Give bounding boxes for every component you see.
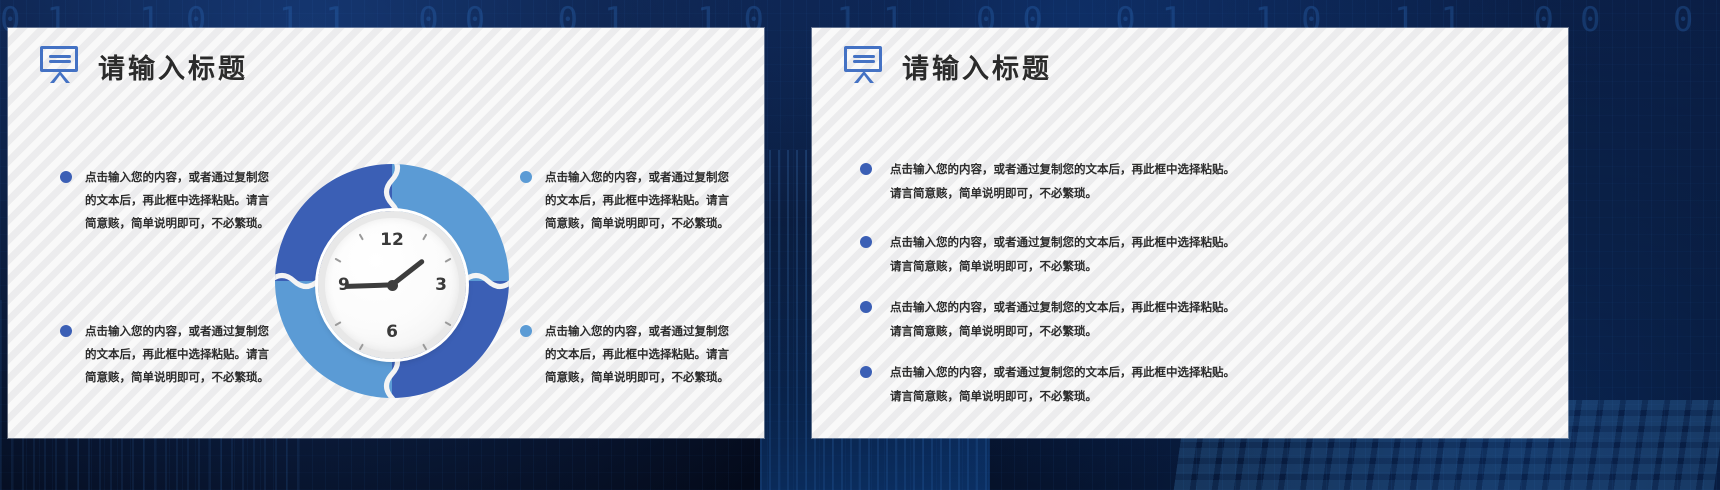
slide-left-title-row: 请输入标题 bbox=[40, 46, 248, 86]
bullet-text: 点击输入您的内容，或者通过复制您的文本后，再此框中选择粘贴。请言简意赅，简单说明… bbox=[890, 158, 1235, 205]
bullet-top-left: 点击输入您的内容，或者通过复制您的文本后，再此框中选择粘贴。请言简意赅，简单说明… bbox=[60, 166, 275, 235]
list-item: 点击输入您的内容，或者通过复制您的文本后，再此框中选择粘贴。请言简意赅，简单说明… bbox=[860, 231, 1235, 278]
slide-right[interactable]: 请输入标题 点击输入您的内容，或者通过复制您的文本后，再此框中选择粘贴。请言简意… bbox=[812, 28, 1568, 438]
bullet-text: 点击输入您的内容，或者通过复制您的文本后，再此框中选择粘贴。请言简意赅，简单说明… bbox=[890, 361, 1235, 408]
bullet-text: 点击输入您的内容，或者通过复制您的文本后，再此框中选择粘贴。请言简意赅，简单说明… bbox=[85, 320, 275, 389]
bullet-dot-icon bbox=[520, 325, 532, 337]
bullet-top-right: 点击输入您的内容，或者通过复制您的文本后，再此框中选择粘贴。请言简意赅，简单说明… bbox=[520, 166, 735, 235]
clock-puzzle-graphic: 12 3 6 9 bbox=[270, 156, 514, 406]
bullet-bottom-right: 点击输入您的内容，或者通过复制您的文本后，再此框中选择粘贴。请言简意赅，简单说明… bbox=[520, 320, 735, 389]
bullet-dot-icon bbox=[860, 301, 872, 313]
list-item: 点击输入您的内容，或者通过复制您的文本后，再此框中选择粘贴。请言简意赅，简单说明… bbox=[860, 158, 1235, 205]
bullet-text: 点击输入您的内容，或者通过复制您的文本后，再此框中选择粘贴。请言简意赅，简单说明… bbox=[890, 296, 1235, 343]
bullet-text: 点击输入您的内容，或者通过复制您的文本后，再此框中选择粘贴。请言简意赅，简单说明… bbox=[890, 231, 1235, 278]
bullet-dot-icon bbox=[860, 163, 872, 175]
page-title: 请输入标题 bbox=[902, 47, 1052, 86]
clock-center-pivot bbox=[387, 280, 398, 291]
bullet-text: 点击输入您的内容，或者通过复制您的文本后，再此框中选择粘贴。请言简意赅，简单说明… bbox=[85, 166, 275, 235]
projector-screen-icon bbox=[844, 46, 886, 86]
slide-right-title-row: 请输入标题 bbox=[844, 46, 1052, 86]
bullet-dot-icon bbox=[60, 171, 72, 183]
list-item: 点击输入您的内容，或者通过复制您的文本后，再此框中选择粘贴。请言简意赅，简单说明… bbox=[860, 296, 1235, 343]
bullet-text: 点击输入您的内容，或者通过复制您的文本后，再此框中选择粘贴。请言简意赅，简单说明… bbox=[545, 320, 735, 389]
clock-numeral-6: 6 bbox=[386, 322, 398, 342]
slide-left[interactable]: 请输入标题 点击输入您的内容，或者通过复制您的文本后，再此框中选择粘贴。请言简意… bbox=[8, 28, 764, 438]
clock-face: 12 3 6 9 bbox=[318, 211, 466, 359]
clock-numeral-12: 12 bbox=[380, 230, 404, 250]
page-title: 请输入标题 bbox=[98, 47, 248, 86]
bullet-bottom-left: 点击输入您的内容，或者通过复制您的文本后，再此框中选择粘贴。请言简意赅，简单说明… bbox=[60, 320, 275, 389]
bullet-text: 点击输入您的内容，或者通过复制您的文本后，再此框中选择粘贴。请言简意赅，简单说明… bbox=[545, 166, 735, 235]
bullet-dot-icon bbox=[520, 171, 532, 183]
projector-screen-icon bbox=[40, 46, 82, 86]
bullet-dot-icon bbox=[60, 325, 72, 337]
presentation-preview: 01 10 11 00 01 10 11 00 01 10 11 00 01 1… bbox=[0, 0, 1720, 490]
bullet-dot-icon bbox=[860, 366, 872, 378]
bullet-dot-icon bbox=[860, 236, 872, 248]
clock-numeral-3: 3 bbox=[435, 275, 447, 295]
list-item: 点击输入您的内容，或者通过复制您的文本后，再此框中选择粘贴。请言简意赅，简单说明… bbox=[860, 361, 1235, 408]
